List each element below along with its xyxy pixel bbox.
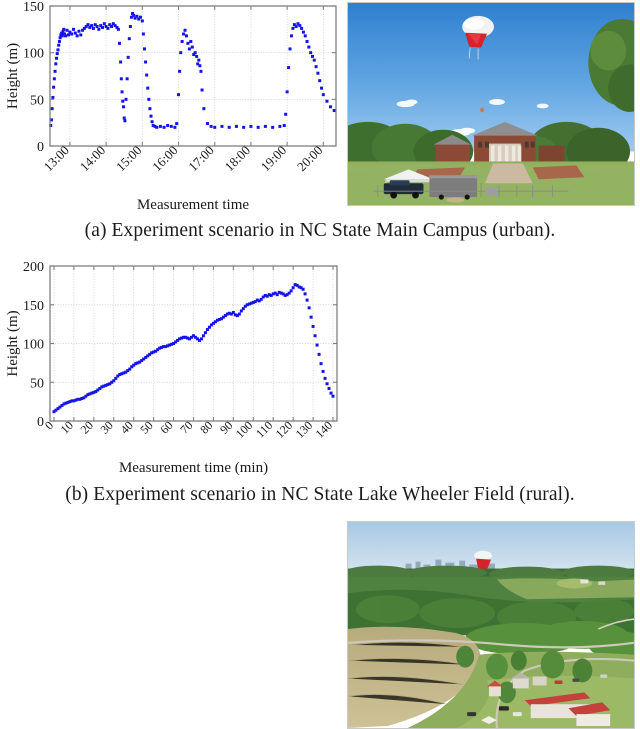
y-tick-label: 100 bbox=[23, 338, 44, 353]
figure-panel-b: 0501001502000102030405060708090100110120… bbox=[0, 258, 640, 480]
photo-field-graphic bbox=[348, 522, 634, 728]
caption-panel-a: (a) Experiment scenario in NC State Main… bbox=[0, 220, 640, 242]
chart-a: 05010015013:0014:0015:0016:0017:0018:001… bbox=[0, 0, 345, 215]
caption-panel-b: (b) Experiment scenario in NC State Lake… bbox=[0, 484, 640, 506]
equipment-trailer bbox=[429, 175, 477, 199]
x-tick-label: 14:00 bbox=[77, 143, 109, 175]
photo-lake-wheeler-field bbox=[347, 521, 635, 729]
y-tick-label: 50 bbox=[30, 376, 44, 391]
x-axis-label: Measurement time bbox=[137, 197, 249, 213]
x-tick-label: 19:00 bbox=[258, 143, 290, 175]
y-tick-label: 0 bbox=[37, 140, 44, 155]
y-tick-label: 50 bbox=[30, 93, 44, 108]
y-axis-label: Height (m) bbox=[5, 310, 21, 376]
y-tick-label: 150 bbox=[23, 299, 44, 314]
x-tick-label: 17:00 bbox=[185, 143, 217, 175]
chart-b-container: 0501001502000102030405060708090100110120… bbox=[0, 258, 345, 480]
figure-panel-a: 05010015013:0014:0015:0016:0017:0018:001… bbox=[0, 0, 640, 215]
y-tick-label: 100 bbox=[23, 47, 44, 62]
x-tick-label: 20:00 bbox=[294, 143, 326, 175]
y-tick-label: 150 bbox=[23, 0, 44, 15]
photo-campus-graphic bbox=[348, 3, 634, 205]
photo-nc-state-main-campus bbox=[347, 2, 635, 206]
chart-b: 0501001502000102030405060708090100110120… bbox=[0, 258, 345, 480]
x-tick-label: 16:00 bbox=[149, 143, 181, 175]
x-tick-label: 13:00 bbox=[40, 143, 72, 175]
x-tick-label: 15:00 bbox=[113, 143, 145, 175]
y-tick-label: 200 bbox=[23, 260, 44, 275]
x-tick-label: 18:00 bbox=[221, 143, 253, 175]
y-axis-label: Height (m) bbox=[5, 43, 21, 109]
chart-a-container: 05010015013:0014:0015:0016:0017:0018:001… bbox=[0, 0, 345, 215]
x-axis-label: Measurement time (min) bbox=[119, 460, 268, 476]
